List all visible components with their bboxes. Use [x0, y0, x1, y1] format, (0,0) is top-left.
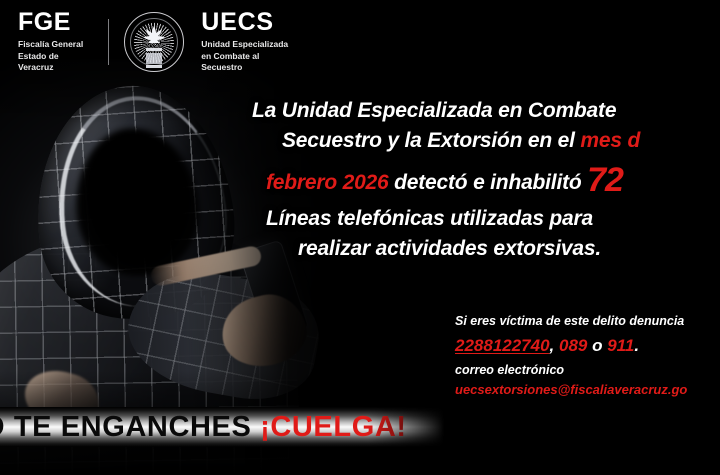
message-line-2-highlight: mes d	[580, 129, 640, 152]
message-line-4: Líneas telefónicas utilizadas para	[252, 204, 720, 234]
message-line-2: Secuestro y la Extorsión en el mes d	[252, 126, 720, 156]
email-label: correo electrónico	[455, 361, 720, 380]
fge-subtitle: Fiscalía General Estado de Veracruz	[18, 39, 94, 73]
contact-phone-list: 2288122740, 089 o 911.	[455, 333, 720, 359]
main-message: La Unidad Especializada en Combate Secue…	[252, 96, 720, 264]
uecs-logo: UECS Unidad Especializada en Combate al …	[201, 10, 300, 73]
message-line-3-text: detectó e inhabilitó	[389, 171, 588, 194]
header-divider	[108, 19, 109, 65]
fge-subtitle-line1: Fiscalía General	[18, 39, 94, 50]
message-line-1: La Unidad Especializada en Combate	[252, 96, 720, 126]
message-line-5: realizar actividades extorsivas.	[252, 234, 720, 264]
slogan-highlight: ¡CUELGA!	[260, 411, 407, 443]
uecs-subtitle: Unidad Especializada en Combate al Secue…	[201, 39, 300, 73]
fge-subtitle-line2: Estado de Veracruz	[18, 51, 94, 74]
message-line-3: febrero 2026 detectó e inhabilitó 72	[252, 156, 720, 204]
veracruz-state-seal-icon	[123, 11, 185, 73]
bottom-slogan-banner: O TE ENGANCHES ¡CUELGA!	[0, 407, 444, 447]
contact-block: Si eres víctima de este delito denuncia …	[455, 312, 720, 399]
phone-conjunction: o	[587, 336, 607, 355]
eagle-icon	[137, 24, 171, 46]
fge-acronym: FGE	[18, 10, 94, 35]
institutional-header: FGE Fiscalía General Estado de Veracruz …	[0, 0, 300, 84]
phone-number-primary[interactable]: 2288122740	[455, 336, 550, 355]
phone-number-089[interactable]: 089	[559, 336, 587, 355]
message-line-2-text: Secuestro y la Extorsión en el	[282, 129, 580, 152]
slogan-primary: O TE ENGANCHES	[0, 411, 260, 443]
uecs-acronym: UECS	[201, 10, 300, 35]
message-count: 72	[587, 161, 623, 199]
fge-logo: FGE Fiscalía General Estado de Veracruz	[18, 10, 94, 73]
contact-lead-text: Si eres víctima de este delito denuncia	[455, 312, 720, 331]
phone-period: .	[634, 336, 639, 355]
slogan-text: O TE ENGANCHES ¡CUELGA!	[0, 413, 407, 442]
phone-number-911[interactable]: 911	[607, 336, 634, 355]
seal-monument	[146, 48, 162, 68]
extortion-awareness-poster: FGE Fiscalía General Estado de Veracruz …	[0, 0, 720, 475]
email-address[interactable]: uecsextorsiones@fiscaliaveracruz.go	[455, 381, 720, 399]
phone-separator-1: ,	[550, 336, 559, 355]
uecs-subtitle-line1: Unidad Especializada	[201, 39, 300, 50]
message-month-year: febrero 2026	[266, 171, 389, 194]
uecs-subtitle-line2: en Combate al Secuestro	[201, 51, 300, 74]
